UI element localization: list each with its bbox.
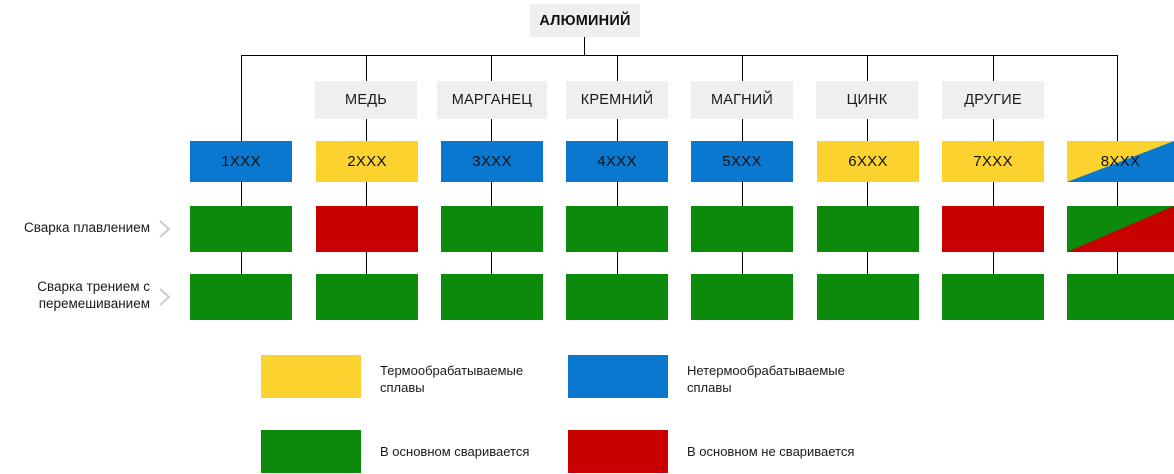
series-box-2xxx: 2XXX xyxy=(316,141,418,182)
series-label-4xxx: 4XXX xyxy=(597,153,637,170)
series-label-3xxx: 3XXX xyxy=(472,153,512,170)
fusion-cell-4xxx xyxy=(566,206,668,252)
connector-drop-col8 xyxy=(1117,55,1118,141)
series-box-3xxx: 3XXX xyxy=(441,141,543,182)
series-label-7xxx: 7XXX xyxy=(973,153,1013,170)
series-box-4xxx: 4XXX xyxy=(566,141,668,182)
legend-label-non-heat-treatable: Нетермообрабатываемые сплавы xyxy=(687,362,887,396)
connector-drop-col3 xyxy=(491,55,492,81)
root-node-aluminium: АЛЮМИНИЙ xyxy=(530,4,640,37)
series-box-1xxx: 1XXX xyxy=(190,141,292,182)
connector-drop-col6 xyxy=(867,55,868,81)
fsw-cell-4xxx xyxy=(566,274,668,320)
legend-swatch-not-weldable xyxy=(568,430,668,473)
connector-series-row1-col6 xyxy=(867,182,868,206)
connector-elem-series-col6 xyxy=(867,119,868,141)
fsw-cell-2xxx xyxy=(316,274,418,320)
fsw-cell-3xxx xyxy=(441,274,543,320)
series-box-6xxx: 6XXX xyxy=(817,141,919,182)
element-box-others: ДРУГИЕ xyxy=(942,81,1044,119)
connector-drop-col2 xyxy=(366,55,367,81)
fsw-cell-8xxx xyxy=(1067,274,1174,320)
connector-row1-row2-col1 xyxy=(241,252,242,274)
connector-drop-col7 xyxy=(993,55,994,81)
connector-elem-series-col3 xyxy=(491,119,492,141)
element-label-copper: МЕДЬ xyxy=(345,92,387,108)
element-box-manganese: МАРГАНЕЦ xyxy=(437,81,547,119)
series-label-1xxx: 1XXX xyxy=(221,153,261,170)
legend-label-not-weldable: В основном не сваривается xyxy=(687,443,907,460)
element-label-zinc: ЦИНК xyxy=(847,92,888,108)
connector-row1-row2-col3 xyxy=(491,252,492,274)
connector-series-row1-col2 xyxy=(366,182,367,206)
connector-series-row1-col3 xyxy=(491,182,492,206)
connector-root-stem xyxy=(584,37,585,55)
legend-swatch-weldable xyxy=(261,430,361,473)
series-box-7xxx: 7XXX xyxy=(942,141,1044,182)
connector-row1-row2-col6 xyxy=(867,252,868,274)
series-label-6xxx: 6XXX xyxy=(848,153,888,170)
connector-elem-series-col4 xyxy=(617,119,618,141)
chevron-right-icon-row2 xyxy=(158,286,172,308)
fusion-cell-7xxx xyxy=(942,206,1044,252)
connector-series-row1-col8 xyxy=(1117,182,1118,206)
fsw-cell-7xxx xyxy=(942,274,1044,320)
series-label-5xxx: 5XXX xyxy=(722,153,762,170)
legend-label-weldable: В основном сваривается xyxy=(380,443,580,460)
connector-elem-series-col5 xyxy=(742,119,743,141)
legend-swatch-heat-treatable xyxy=(261,355,361,398)
element-box-magnesium: МАГНИЙ xyxy=(691,81,793,119)
connector-series-row1-col7 xyxy=(993,182,994,206)
series-label-8xxx: 8XXX xyxy=(1101,153,1141,170)
element-label-others: ДРУГИЕ xyxy=(964,92,1022,108)
element-label-silicon: КРЕМНИЙ xyxy=(581,92,654,108)
connector-series-row1-col5 xyxy=(742,182,743,206)
fsw-cell-5xxx xyxy=(691,274,793,320)
connector-row1-row2-col4 xyxy=(617,252,618,274)
fusion-cell-1xxx xyxy=(190,206,292,252)
series-label-2xxx: 2XXX xyxy=(347,153,387,170)
legend-label-heat-treatable: Термообрабатываемые сплавы xyxy=(380,362,560,396)
legend-swatch-non-heat-treatable xyxy=(568,355,668,398)
connector-drop-col4 xyxy=(617,55,618,81)
chevron-right-icon-row1 xyxy=(158,218,172,240)
connector-row1-row2-col5 xyxy=(742,252,743,274)
row-label-friction-stir-welding: Сварка трением с перемешиванием xyxy=(0,278,150,312)
diagram-canvas: АЛЮМИНИЙ МЕДЬ МАРГАНЕЦ КРЕМНИЙ МА xyxy=(0,0,1174,474)
root-node-label: АЛЮМИНИЙ xyxy=(539,13,630,29)
fusion-cell-3xxx xyxy=(441,206,543,252)
connector-series-row1-col1 xyxy=(241,182,242,206)
connector-row1-row2-col7 xyxy=(993,252,994,274)
connector-row1-row2-col2 xyxy=(366,252,367,274)
connector-series-row1-col4 xyxy=(617,182,618,206)
fusion-cell-6xxx xyxy=(817,206,919,252)
element-box-silicon: КРЕМНИЙ xyxy=(566,81,668,119)
series-box-5xxx: 5XXX xyxy=(691,141,793,182)
fusion-cell-2xxx xyxy=(316,206,418,252)
fusion-cell-8xxx xyxy=(1067,206,1174,252)
connector-bus xyxy=(241,55,1117,56)
fsw-cell-1xxx xyxy=(190,274,292,320)
connector-drop-col5 xyxy=(742,55,743,81)
element-label-magnesium: МАГНИЙ xyxy=(711,92,773,108)
connector-row1-row2-col8 xyxy=(1117,252,1118,274)
element-box-copper: МЕДЬ xyxy=(315,81,417,119)
element-box-zinc: ЦИНК xyxy=(816,81,918,119)
element-label-manganese: МАРГАНЕЦ xyxy=(452,92,532,108)
series-box-8xxx: 8XXX xyxy=(1067,141,1174,182)
connector-elem-series-col2 xyxy=(366,119,367,141)
fsw-cell-6xxx xyxy=(817,274,919,320)
connector-drop-col1 xyxy=(241,55,242,141)
connector-elem-series-col7 xyxy=(993,119,994,141)
row-label-fusion-welding: Сварка плавлением xyxy=(0,219,150,236)
fusion-cell-5xxx xyxy=(691,206,793,252)
